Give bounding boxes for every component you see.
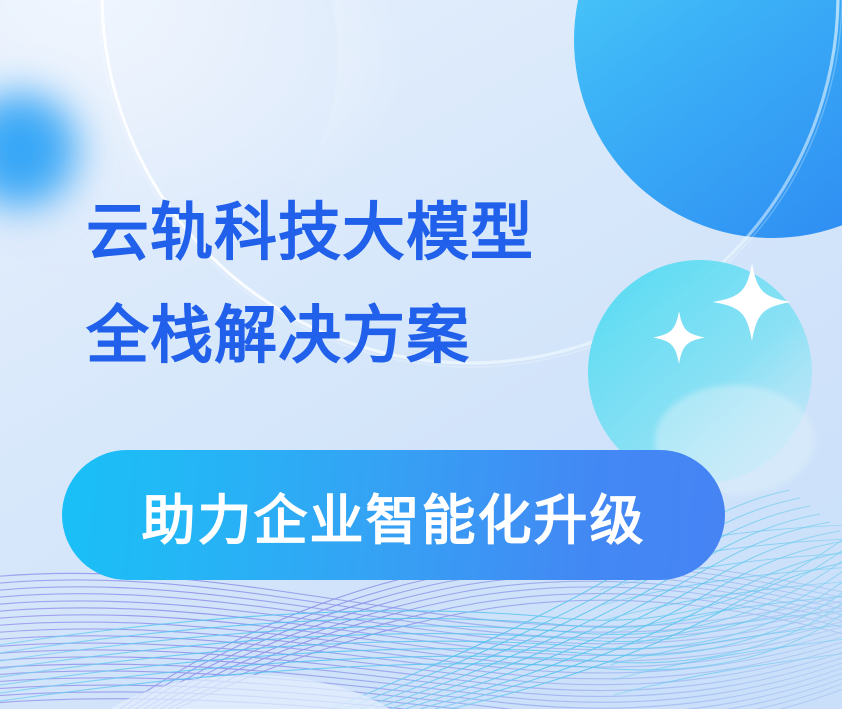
cta-button-label: 助力企业智能化升级 [142, 476, 646, 555]
cta-button[interactable]: 助力企业智能化升级 [62, 450, 725, 580]
headline-line-2: 全栈解决方案 [86, 285, 534, 388]
promo-banner: 云轨科技大模型 全栈解决方案 助力企业智能化升级 [0, 0, 842, 709]
headline-line-1: 云轨科技大模型 [86, 182, 534, 285]
banner-content: 云轨科技大模型 全栈解决方案 助力企业智能化升级 [0, 0, 842, 709]
page-title: 云轨科技大模型 全栈解决方案 [86, 182, 534, 388]
